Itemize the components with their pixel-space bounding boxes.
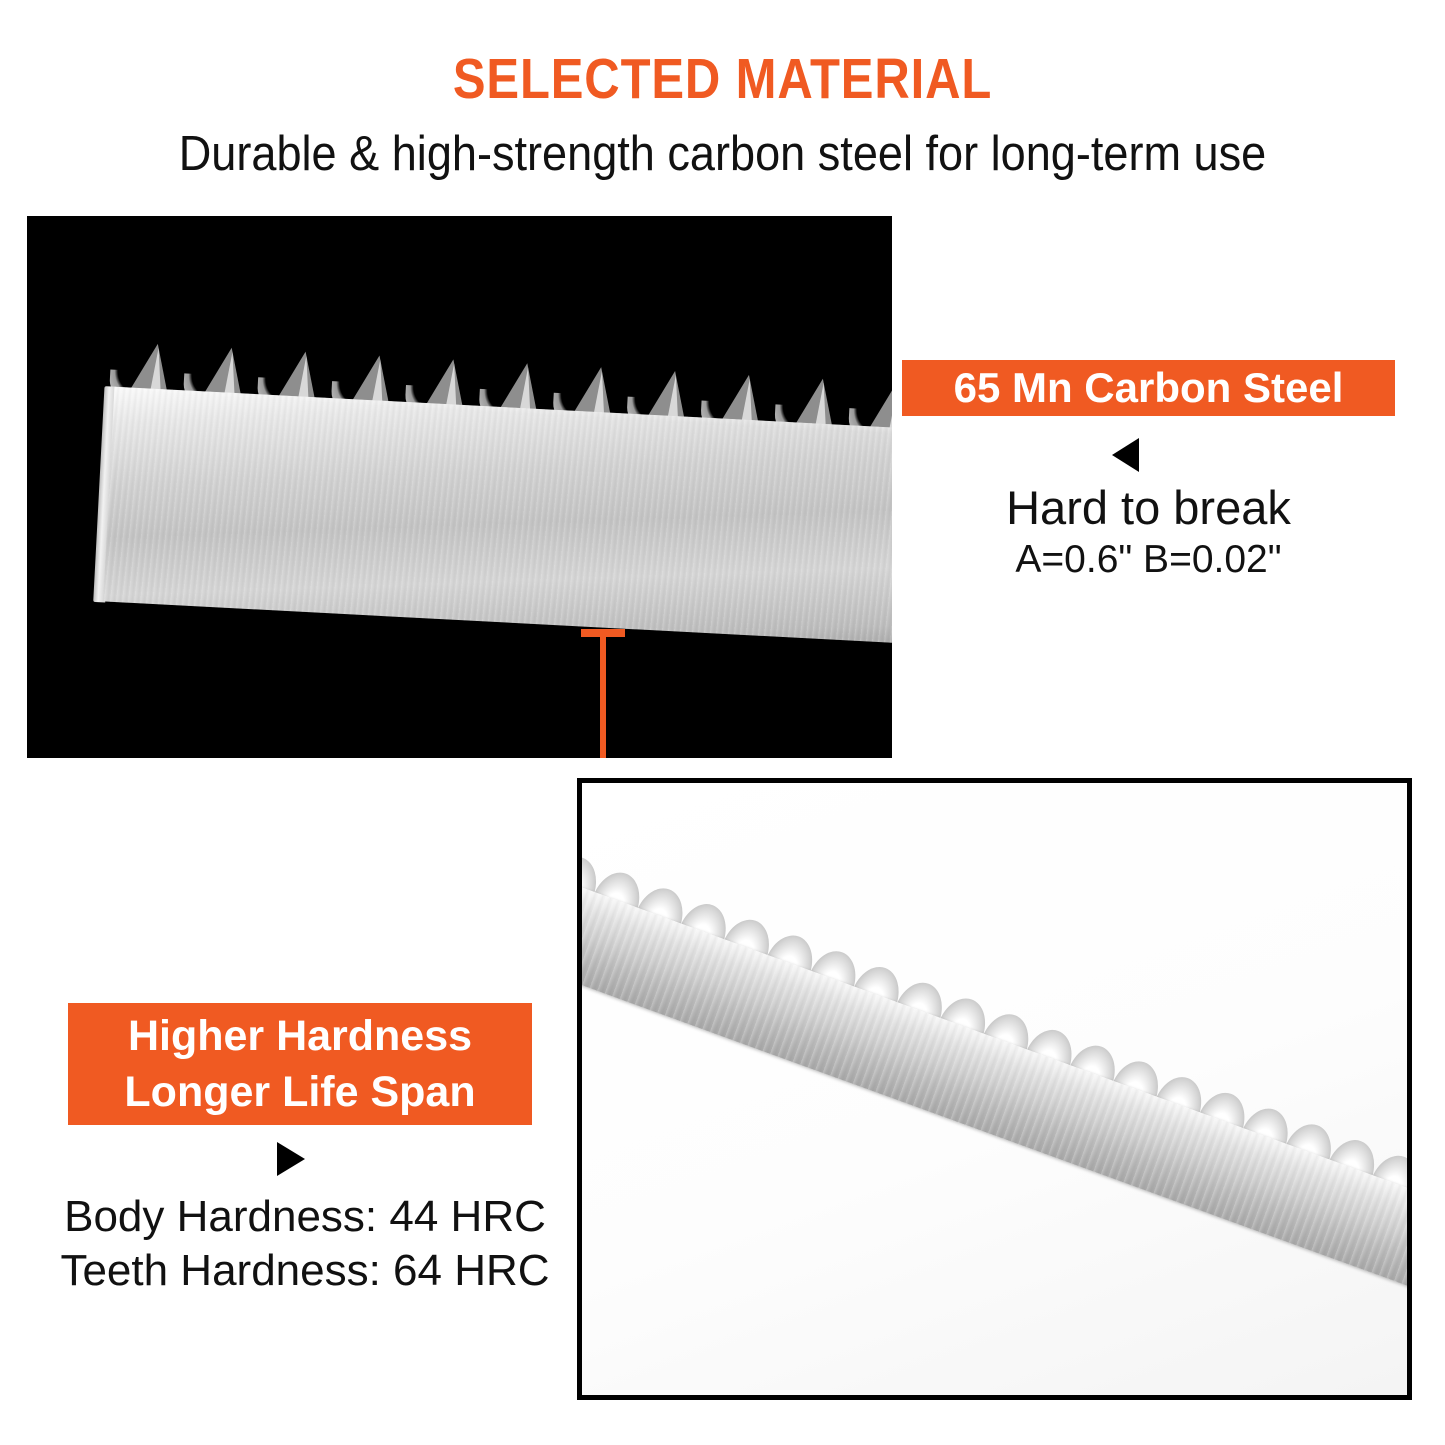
teeth-hardness-text: Teeth Hardness: 64 HRC	[40, 1246, 570, 1296]
infographic-page: SELECTED MATERIAL Durable & high-strengt…	[0, 0, 1445, 1445]
hardness-tester-photo-panel: L83678 Time: 17:41:00 07/15/2009Date: 07…	[577, 778, 1412, 1400]
left-triangle-icon	[1112, 438, 1139, 472]
dimension-values-text: A=0.6" B=0.02"	[902, 538, 1395, 582]
page-subtitle: Durable & high-strength carbon steel for…	[58, 126, 1387, 182]
steel-grade-badge-label: 65 Mn Carbon Steel	[954, 364, 1344, 412]
body-hardness-text: Body Hardness: 44 HRC	[40, 1192, 570, 1242]
blade-photo-panel: A B	[27, 216, 892, 758]
page-title: SELECTED MATERIAL	[101, 46, 1344, 112]
hard-to-break-text: Hard to break	[902, 480, 1395, 535]
blade-grain-texture	[103, 387, 892, 647]
steel-grade-badge: 65 Mn Carbon Steel	[902, 360, 1395, 416]
dimension-line-a	[600, 633, 606, 758]
right-triangle-icon	[277, 1142, 305, 1176]
band-saw-blade-illustration	[27, 336, 892, 686]
hardness-badge-line2: Longer Life Span	[124, 1064, 475, 1120]
hardness-badge: Higher Hardness Longer Life Span	[68, 1003, 532, 1125]
hardness-badge-line1: Higher Hardness	[128, 1008, 472, 1064]
